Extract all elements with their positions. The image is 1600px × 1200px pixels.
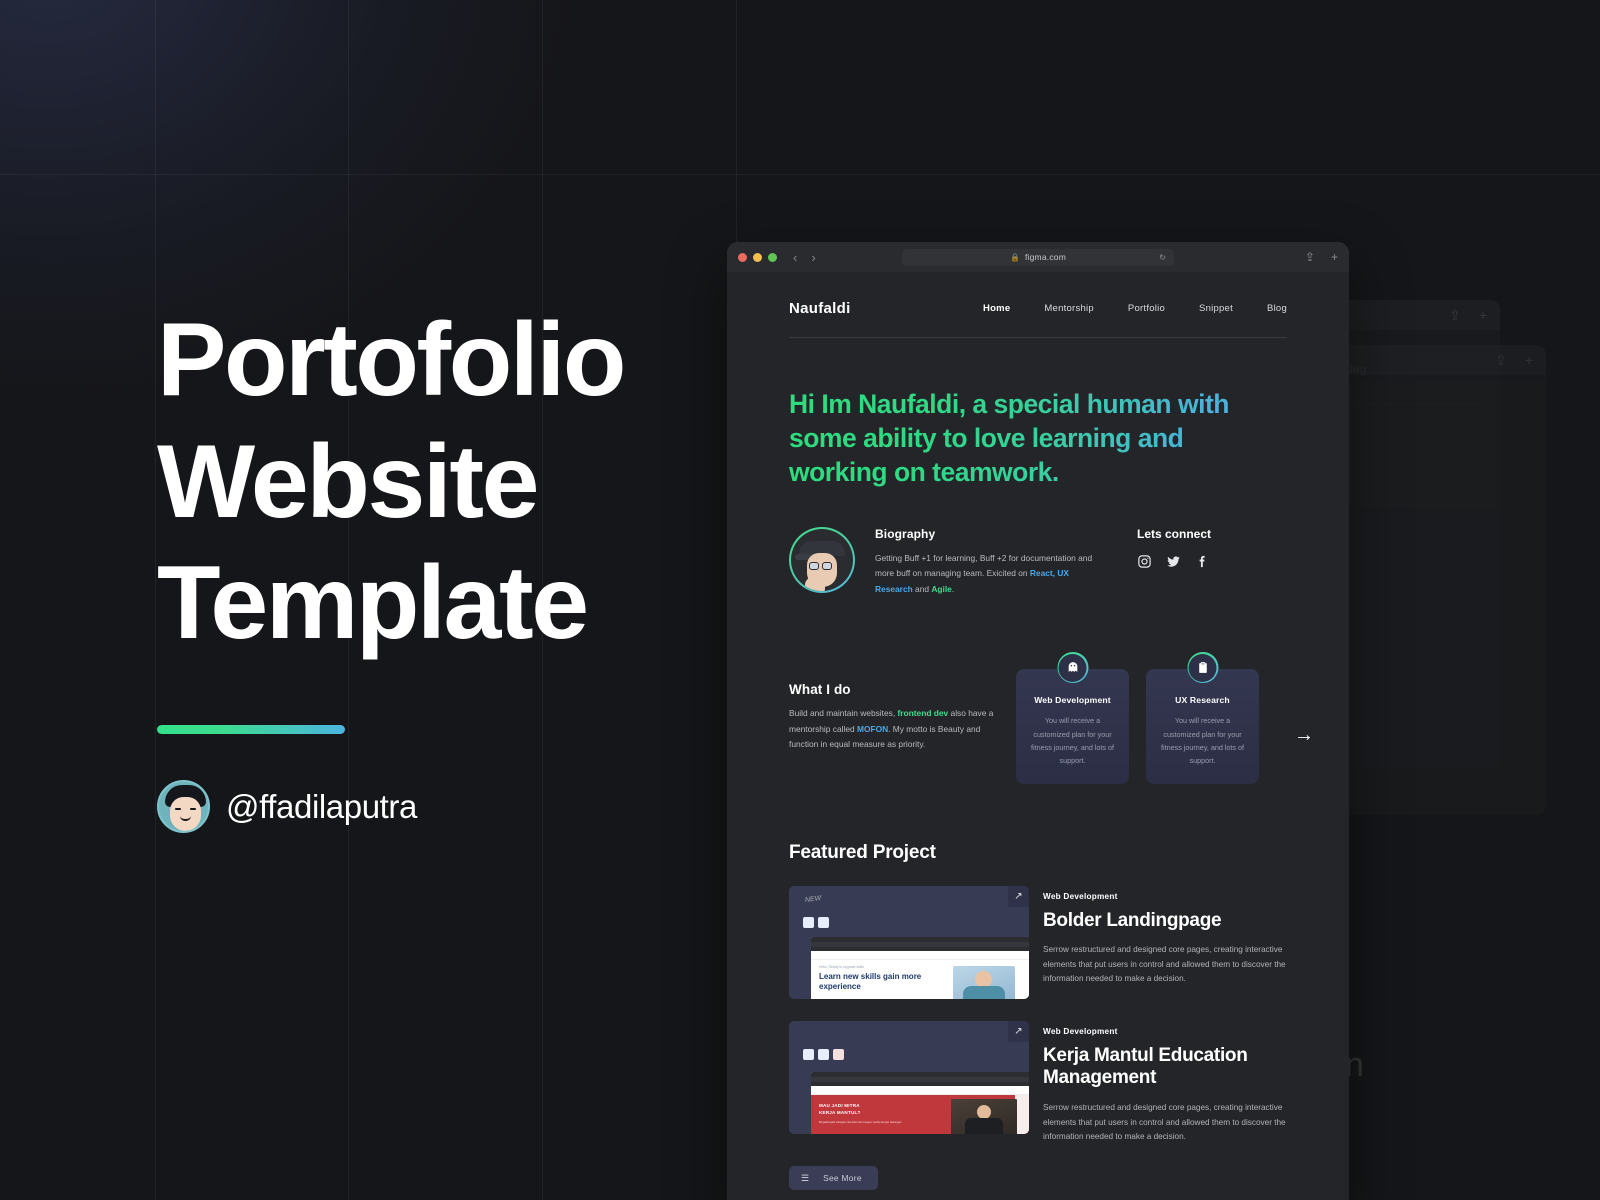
grid-line-horizontal [0, 174, 1600, 175]
plus-icon: + [1525, 353, 1533, 367]
site-navbar: Naufaldi Home Mentorship Portfolio Snipp… [753, 272, 1323, 317]
facebook-icon[interactable] [1195, 554, 1210, 569]
avatar-eye-right [190, 808, 196, 810]
profile-avatar [789, 527, 855, 593]
service-cards: Web Development You will receive a custo… [1016, 651, 1314, 783]
avatar [157, 780, 210, 833]
share-icon[interactable]: ⇪ [1305, 250, 1315, 264]
connect-block: Lets connect [1137, 527, 1287, 598]
grid-line-vertical [155, 0, 156, 1200]
maximize-button[interactable] [768, 253, 777, 262]
what-i-do-part-1: Build and maintain websites, [789, 708, 897, 718]
avatar-glasses-left [809, 562, 819, 570]
plus-icon: + [1479, 308, 1487, 322]
service-card-desc: You will receive a customized plan for y… [1157, 714, 1248, 767]
accent-bar [157, 725, 345, 734]
avatar-hand [805, 577, 825, 591]
browser-actions[interactable]: ⇪ + [1305, 250, 1338, 264]
featured-project-title: Featured Project [789, 842, 1287, 864]
service-card-desc: You will receive a customized plan for y… [1027, 714, 1118, 767]
biography-text-block: Biography Getting Buff +1 for learning, … [875, 527, 1100, 598]
navbar-divider [789, 337, 1287, 338]
service-badge [1187, 652, 1218, 683]
clipboard-icon [1189, 654, 1217, 682]
screenshot-headline: MAU JADI MITRAKERJA MANTUL? [819, 1103, 860, 1117]
instagram-icon[interactable] [1137, 554, 1152, 569]
thumbnail-screenshot: MAU JADI MITRAKERJA MANTUL? Bergabunglah… [811, 1072, 1029, 1134]
screenshot-photo [951, 1099, 1017, 1134]
service-card-title: UX Research [1157, 695, 1248, 705]
service-card-web-development[interactable]: Web Development You will receive a custo… [1016, 669, 1129, 783]
photo-head [977, 1105, 991, 1119]
thumbnail-new-label: NEW [805, 895, 822, 904]
screenshot-hero: MAU JADI MITRAKERJA MANTUL? Bergabunglah… [811, 1095, 1029, 1134]
service-card-title: Web Development [1027, 695, 1118, 705]
what-i-do-link-mofon[interactable]: MOFON [857, 724, 888, 734]
promo-title-line-3: Template [157, 543, 717, 665]
list-icon: ☰ [801, 1174, 809, 1183]
what-i-do-section: What I do Build and maintain websites, f… [789, 651, 1287, 783]
screenshot-hero: Hello, Ready to upgrade skills Learn new… [811, 960, 1029, 999]
thumbnail-screenshot: Hello, Ready to upgrade skills Learn new… [811, 937, 1029, 999]
screenshot-headline-line-2: KERJA MANTUL? [819, 1110, 860, 1115]
window-controls[interactable] [738, 253, 777, 262]
author-handle-row: @ffadilaputra [157, 780, 717, 833]
project-title[interactable]: Bolder Landingpage [1043, 910, 1287, 933]
nav-item-blog[interactable]: Blog [1267, 303, 1287, 314]
project-thumbnail-1[interactable]: ↗ NEW Hello, Ready to upgrade skills L [789, 886, 1029, 999]
promo-title-line-1: Portofolio [157, 300, 717, 422]
close-button[interactable] [738, 253, 747, 262]
screenshot-sitenav [811, 951, 1029, 960]
service-badge [1057, 652, 1088, 683]
ghost-browser-window-front: ⇪ + [1316, 345, 1546, 815]
connect-title: Lets connect [1137, 527, 1287, 541]
ghost-body [1316, 375, 1546, 409]
share-icon: ⇪ [1495, 353, 1507, 367]
biography-link-agile[interactable]: Agile [931, 584, 951, 594]
avatar-glasses-right [822, 562, 832, 570]
screenshot-photo [953, 966, 1015, 999]
avatar-eye-left [175, 808, 181, 810]
what-i-do-body: Build and maintain websites, frontend de… [789, 706, 994, 754]
screenshot-panel [1015, 1095, 1029, 1134]
nav-item-mentorship[interactable]: Mentorship [1044, 303, 1094, 314]
screenshot-headline: Learn new skills gain more experience [819, 972, 939, 992]
share-icon: ⇪ [1449, 308, 1461, 322]
biography-body: Getting Buff +1 for learning, Buff +2 fo… [875, 551, 1100, 598]
hero-heading: Hi Im Naufaldi, a special human with som… [789, 388, 1287, 490]
see-more-label: See More [823, 1173, 862, 1183]
chevron-right-icon[interactable]: › [811, 250, 815, 265]
plus-icon[interactable]: + [1331, 250, 1338, 264]
ghost-icon [1059, 654, 1087, 682]
biography-body-part-3: . [952, 584, 954, 594]
what-i-do-title: What I do [789, 682, 994, 697]
biography-row: Biography Getting Buff +1 for learning, … [789, 527, 1287, 598]
project-row-1: ↗ NEW Hello, Ready to upgrade skills L [789, 886, 1287, 999]
screenshot-subhead: Hello, Ready to upgrade skills [819, 965, 864, 969]
author-handle: @ffadilaputra [226, 788, 417, 826]
project-info-2: Web Development Kerja Mantul Education M… [1043, 1021, 1287, 1145]
address-bar[interactable]: 🔒 figma.com ↻ [902, 249, 1174, 266]
avatar-face [170, 797, 201, 831]
project-thumbnail-2[interactable]: ↗ MAU JADI MITRAKERJA MANTUL? Berga [789, 1021, 1029, 1134]
thumbnail-chip [833, 1049, 844, 1060]
site-brand[interactable]: Naufaldi [789, 300, 851, 317]
thumbnail-chips [803, 1049, 844, 1060]
what-i-do-link-frontend[interactable]: frontend dev [897, 708, 948, 718]
twitter-icon[interactable] [1166, 554, 1181, 569]
arrow-right-icon[interactable]: → [1294, 706, 1314, 747]
reload-icon[interactable]: ↻ [1159, 253, 1166, 262]
nav-item-portfolio[interactable]: Portfolio [1128, 303, 1165, 314]
project-info-1: Web Development Bolder Landingpage Serro… [1043, 886, 1287, 999]
ghost-titlebar: ⇪ + [1316, 345, 1546, 375]
profile-avatar-image [791, 529, 853, 591]
nav-item-home[interactable]: Home [983, 303, 1010, 314]
project-title[interactable]: Kerja Mantul Education Management [1043, 1045, 1287, 1091]
screenshot-headline-line-1: MAU JADI MITRA [819, 1103, 860, 1108]
biography-title: Biography [875, 527, 1100, 541]
thumbnail-chip [818, 1049, 829, 1060]
nav-item-snippet[interactable]: Snippet [1199, 303, 1233, 314]
screenshot-sitenav [811, 1086, 1029, 1095]
promo-panel: Portofolio Website Template @ffadilaputr… [157, 300, 717, 833]
project-description: Serrow restructured and designed core pa… [1043, 1101, 1287, 1144]
thumbnail-chip [818, 917, 829, 928]
project-description: Serrow restructured and designed core pa… [1043, 943, 1287, 986]
poster-canvas: ⇪ + Blog ⇪ + n Portofolio Website Templa… [0, 0, 1600, 1200]
what-i-do-text: What I do Build and maintain websites, f… [789, 682, 994, 754]
chevron-left-icon[interactable]: ‹ [793, 250, 797, 265]
browser-navigation[interactable]: ‹ › [793, 250, 816, 265]
arrow-up-right-icon[interactable]: ↗ [1008, 1021, 1029, 1042]
photo-body [963, 986, 1005, 999]
biography-body-part-2: and [913, 584, 932, 594]
see-more-button[interactable]: ☰ See More [789, 1166, 878, 1190]
project-tag: Web Development [1043, 892, 1287, 901]
screenshot-subhead: Bergabunglah sebagai mitra kami dan bang… [819, 1121, 911, 1125]
photo-body [965, 1118, 1003, 1134]
social-links [1137, 554, 1287, 569]
project-row-2: ↗ MAU JADI MITRAKERJA MANTUL? Berga [789, 1021, 1287, 1145]
browser-titlebar: ‹ › 🔒 figma.com ↻ ⇪ + [727, 242, 1349, 272]
thumbnail-chip [803, 917, 814, 928]
service-card-ux-research[interactable]: UX Research You will receive a customize… [1146, 669, 1259, 783]
minimize-button[interactable] [753, 253, 762, 262]
thumbnail-chips [803, 917, 829, 928]
site-page: Naufaldi Home Mentorship Portfolio Snipp… [727, 272, 1349, 1200]
lock-icon: 🔒 [1010, 253, 1020, 262]
project-tag: Web Development [1043, 1027, 1287, 1036]
thumbnail-chip [803, 1049, 814, 1060]
address-bar-host: figma.com [1025, 252, 1066, 262]
arrow-up-right-icon[interactable]: ↗ [1008, 886, 1029, 907]
site-nav-links: Home Mentorship Portfolio Snippet Blog [983, 303, 1287, 314]
promo-title-line-2: Website [157, 422, 717, 544]
browser-window: ‹ › 🔒 figma.com ↻ ⇪ + Naufaldi Home Ment… [727, 242, 1349, 1200]
